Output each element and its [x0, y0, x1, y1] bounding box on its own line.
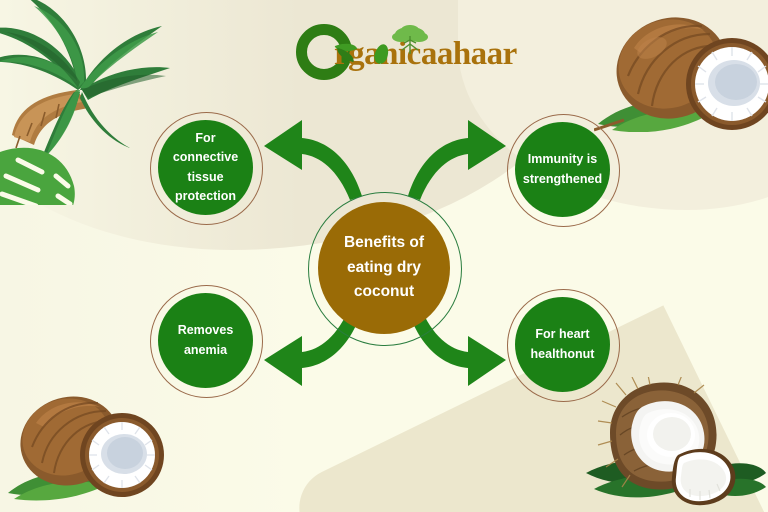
palm-tree-illustration: [0, 0, 172, 210]
arrow-to-top-left: [258, 112, 366, 204]
benefit-node-connective-tissue[interactable]: For connective tissue protection: [158, 120, 253, 215]
benefit-node-immunity[interactable]: Immunity is strengthened: [515, 122, 610, 217]
center-node[interactable]: Benefits of eating dry coconut: [318, 202, 450, 334]
infographic-canvas: rganicaahaar For connective tissue prote…: [0, 0, 768, 512]
coconut-photo-bottom-right: [586, 377, 766, 512]
tree-icon: [390, 24, 430, 56]
organicaahaar-logo[interactable]: rganicaahaar: [296, 22, 506, 84]
coconut-illustration-bottom-left: [8, 385, 168, 508]
benefit-node-heart[interactable]: For heart healthonut: [515, 297, 610, 392]
coconut-illustration-top-right: [594, 2, 768, 137]
benefit-node-anemia[interactable]: Removes anemia: [158, 293, 253, 388]
arrow-to-top-right: [404, 112, 512, 204]
